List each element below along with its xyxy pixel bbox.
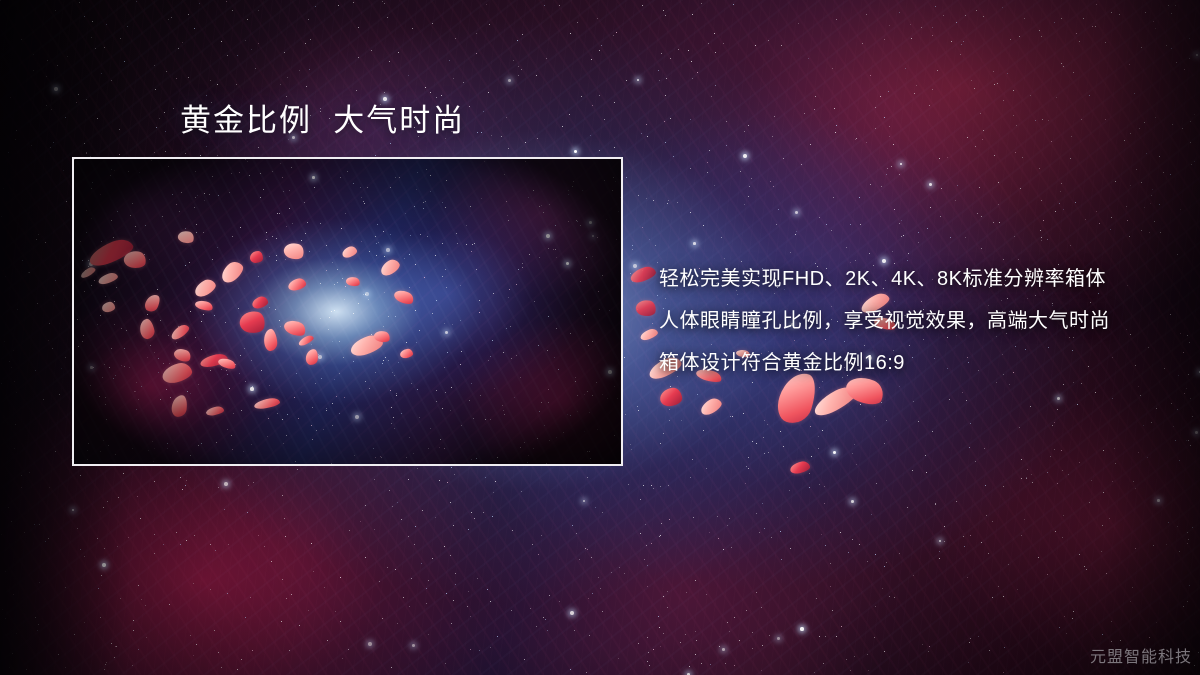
body-line-1: 轻松完美实现FHD、2K、4K、8K标准分辨率箱体: [659, 258, 1179, 300]
bright-star: [1195, 431, 1198, 434]
page-title: 黄金比例 大气时尚: [180, 101, 465, 141]
bright-star: [833, 451, 836, 454]
bright-star: [939, 540, 941, 542]
bright-star: [633, 264, 637, 268]
framed-image-content: [74, 159, 621, 464]
presentation-slide: 黄金比例 大气时尚 轻松完美实现FHD、2K、4K、8K标准分辨率箱体 人体眼睛…: [0, 0, 1200, 675]
bright-star: [102, 563, 106, 567]
bright-star: [1196, 54, 1198, 56]
bright-star: [574, 150, 577, 153]
framed-image: [72, 157, 623, 466]
bright-star: [54, 87, 58, 91]
framed-vignette: [74, 159, 621, 464]
bright-star: [800, 627, 804, 631]
bright-star: [795, 211, 798, 214]
body-line-3: 箱体设计符合黄金比例16:9: [659, 342, 1179, 384]
bright-star: [851, 500, 854, 503]
bright-star: [72, 509, 74, 511]
bright-star: [224, 482, 228, 486]
bright-star: [900, 163, 902, 165]
bright-star: [1057, 397, 1060, 400]
star-dots: [0, 0, 1, 1]
body-text-block: 轻松完美实现FHD、2K、4K、8K标准分辨率箱体 人体眼睛瞳孔比例，享受视觉效…: [659, 258, 1179, 384]
bright-star: [583, 500, 585, 502]
bright-star: [637, 79, 639, 81]
bright-star: [929, 183, 932, 186]
body-line-2: 人体眼睛瞳孔比例，享受视觉效果，高端大气时尚: [659, 300, 1179, 342]
bright-star: [1157, 499, 1160, 502]
bright-star: [368, 642, 372, 646]
bright-star: [743, 154, 747, 158]
bright-star: [508, 79, 511, 82]
bright-star: [722, 648, 725, 651]
bright-star: [412, 644, 415, 647]
bright-star: [570, 611, 574, 615]
watermark: 元盟智能科技: [1090, 643, 1192, 667]
bright-star: [693, 242, 696, 245]
bright-star: [777, 637, 780, 640]
